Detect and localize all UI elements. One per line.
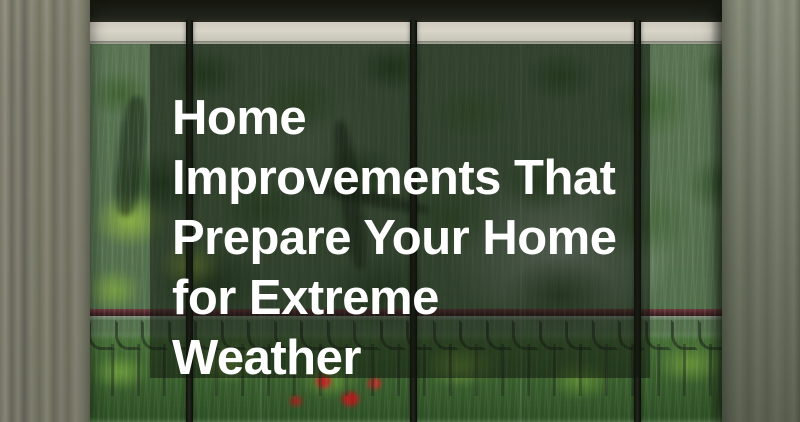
right-curtain-shading: [722, 0, 800, 422]
hero-banner: Home Improvements That Prepare Your Home…: [0, 0, 800, 422]
left-curtain-shading: [0, 0, 90, 422]
headline-line-5: Weather: [172, 328, 642, 388]
page-title: Home Improvements That Prepare Your Home…: [172, 88, 642, 388]
headline-line-2: Improvements That: [172, 148, 642, 208]
headline-line-1: Home: [172, 88, 642, 148]
ceiling-shadow: [0, 0, 800, 22]
headline-line-3: Prepare Your Home: [172, 208, 642, 268]
headline-line-4: for Extreme: [172, 268, 642, 328]
